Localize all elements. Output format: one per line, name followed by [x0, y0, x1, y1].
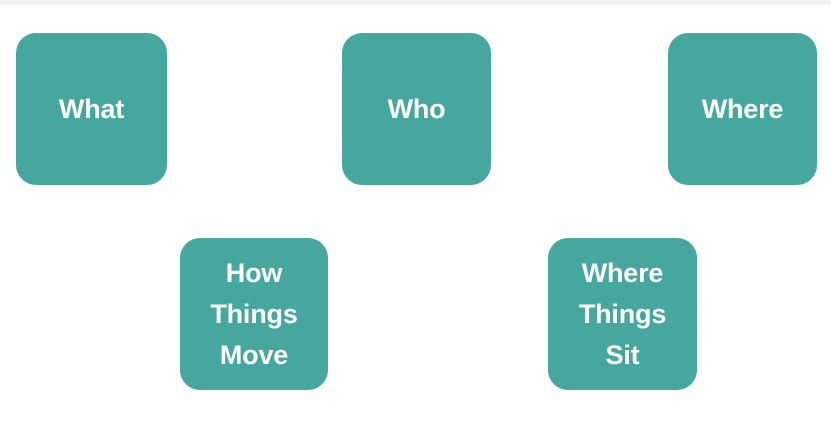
card-where-things-sit-label: Where Things Sit — [579, 253, 666, 376]
card-who-label: Who — [388, 89, 446, 130]
card-what-label: What — [59, 89, 124, 130]
card-how-things-move[interactable]: How Things Move — [180, 238, 328, 390]
card-where-things-sit[interactable]: Where Things Sit — [548, 238, 697, 390]
card-how-things-move-label: How Things Move — [210, 253, 297, 376]
top-edge-strip — [0, 0, 831, 5]
card-where[interactable]: Where — [668, 33, 817, 185]
card-what[interactable]: What — [16, 33, 167, 185]
card-board: What Who Where How Things Move Where Thi… — [0, 0, 831, 424]
card-who[interactable]: Who — [342, 33, 491, 185]
card-where-label: Where — [702, 89, 784, 130]
